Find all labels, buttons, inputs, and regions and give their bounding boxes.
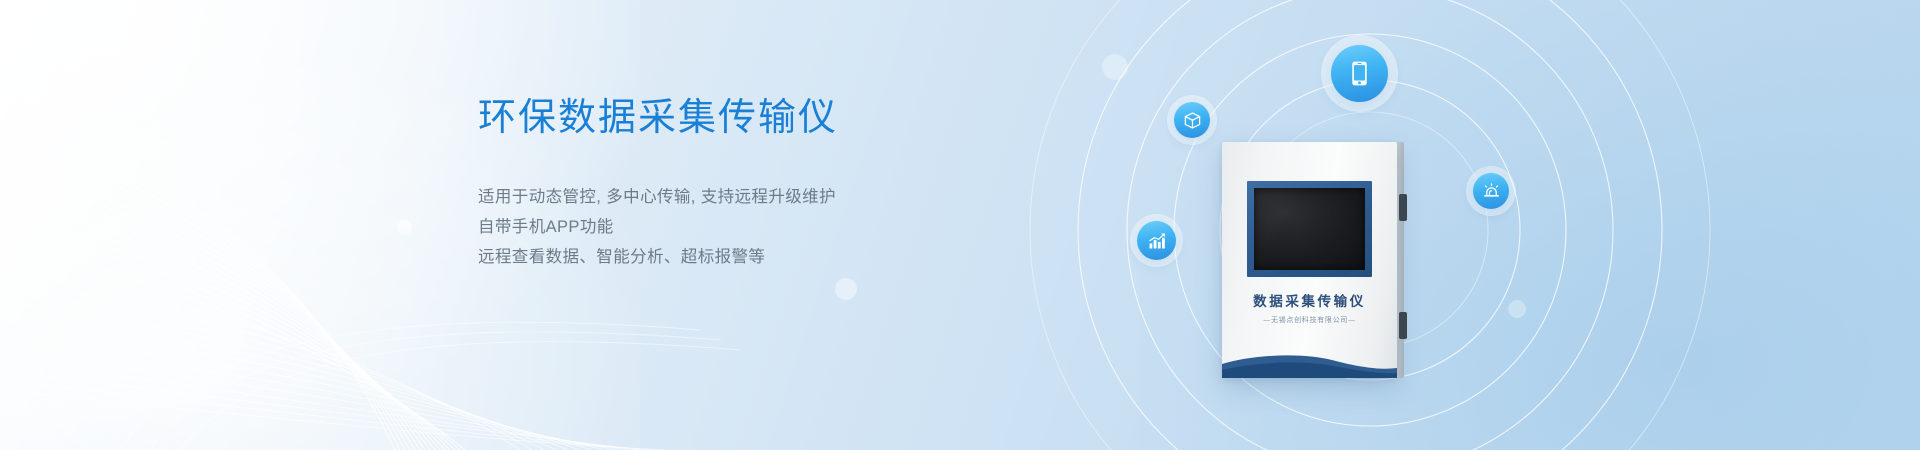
cube-icon[interactable] — [1174, 102, 1210, 138]
banner-subtitle-list: 适用于动态管控, 多中心传输, 支持远程升级维护 自带手机APP功能 远程查看数… — [478, 182, 948, 272]
device-hinge — [1399, 312, 1407, 339]
bokeh-circle — [397, 220, 412, 235]
device-company-label: —无锡点创科技有限公司— — [1222, 315, 1397, 325]
banner-subtitle-line: 适用于动态管控, 多中心传输, 支持远程升级维护 — [478, 182, 948, 212]
device-bottom-band — [1222, 348, 1397, 378]
banner-subtitle-line: 自带手机APP功能 — [478, 212, 948, 242]
bokeh-circle — [1508, 300, 1526, 318]
device-side-panel — [1397, 142, 1404, 378]
bokeh-circle — [1102, 54, 1128, 80]
device-hinge — [1399, 194, 1407, 221]
alarm-siren-icon[interactable] — [1473, 173, 1509, 209]
banner-title: 环保数据采集传输仪 — [478, 96, 948, 142]
device-model-label: 数据采集传输仪 — [1222, 290, 1397, 310]
bar-chart-icon[interactable] — [1137, 221, 1176, 260]
mobile-phone-icon[interactable] — [1331, 45, 1388, 102]
bokeh-circle — [835, 278, 857, 300]
device-enclosure: 数据采集传输仪 —无锡点创科技有限公司— — [1222, 142, 1397, 378]
device-lcd-screen — [1254, 188, 1365, 270]
product-banner: 环保数据采集传输仪 适用于动态管控, 多中心传输, 支持远程升级维护 自带手机A… — [0, 0, 1920, 450]
banner-copy: 环保数据采集传输仪 适用于动态管控, 多中心传输, 支持远程升级维护 自带手机A… — [478, 96, 948, 272]
device-nameplate: 数据采集传输仪 —无锡点创科技有限公司— — [1222, 290, 1397, 325]
device-screen-bezel — [1247, 181, 1372, 277]
banner-subtitle-line: 远程查看数据、智能分析、超标报警等 — [478, 242, 948, 272]
product-device-image: 数据采集传输仪 —无锡点创科技有限公司— — [1222, 142, 1397, 378]
